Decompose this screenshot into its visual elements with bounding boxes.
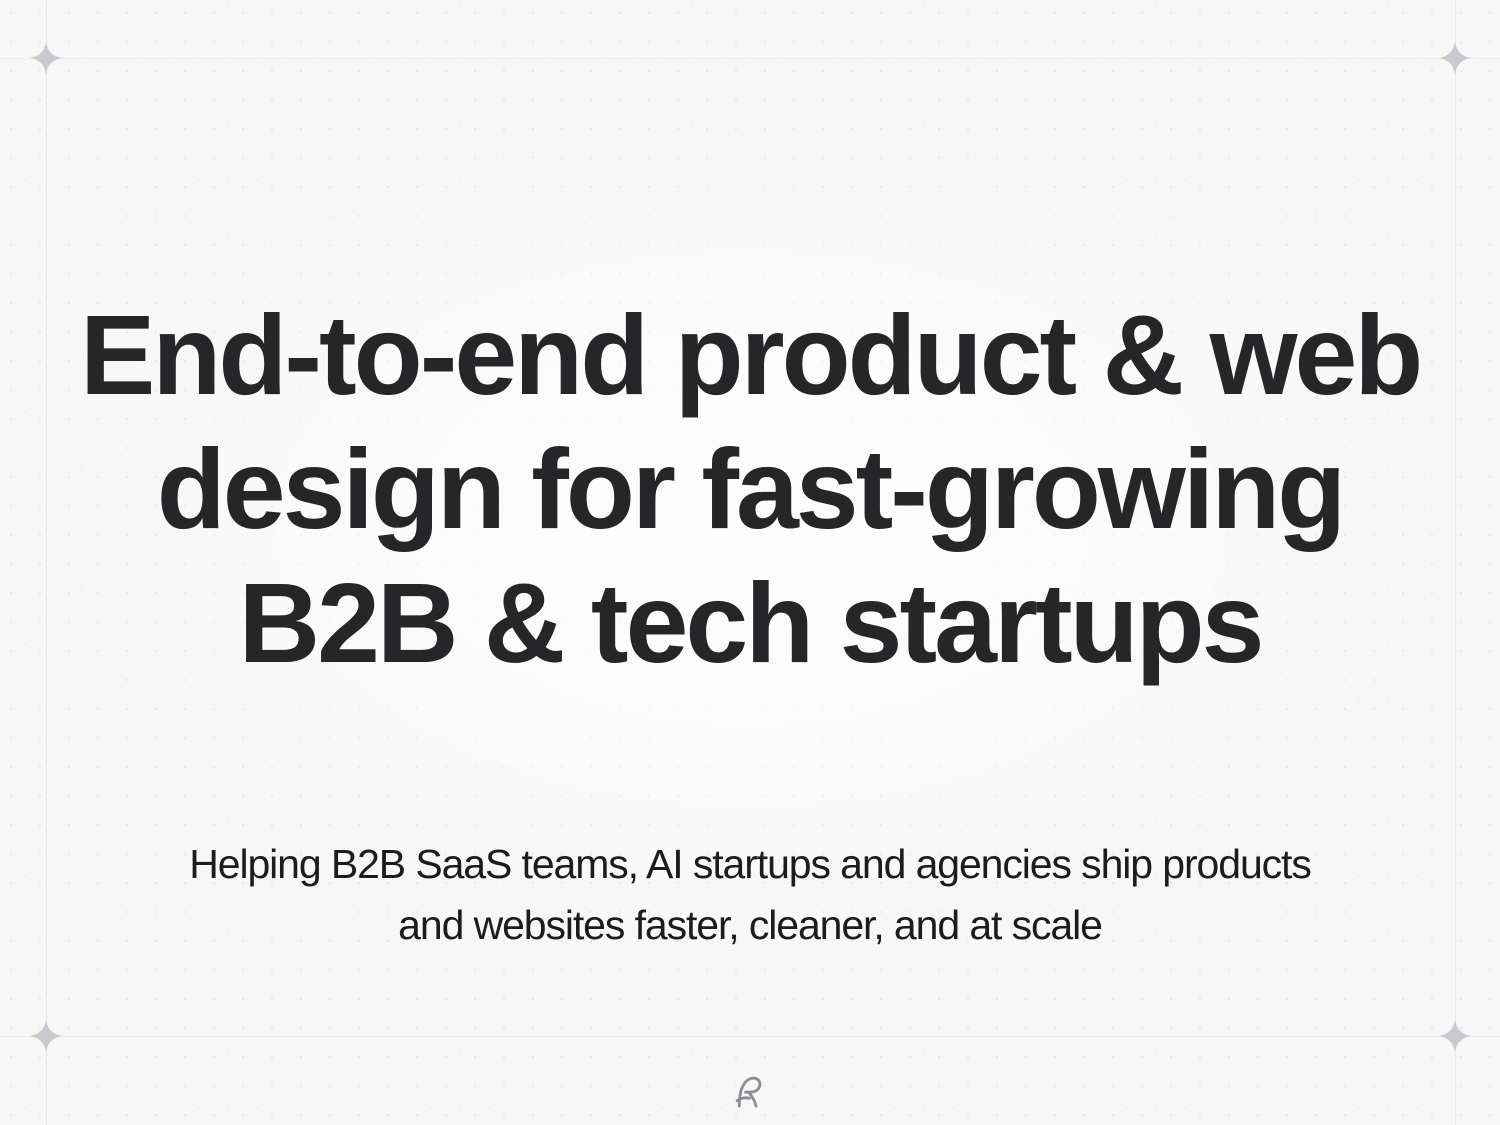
hero-slide: End-to-end product & web design for fast… (0, 0, 1500, 1125)
headline-line-1: End-to-end product & web (80, 288, 1420, 422)
script-r-logo-icon (733, 1073, 767, 1111)
hero-headline: End-to-end product & web design for fast… (80, 288, 1420, 690)
hero-subheadline: Helping B2B SaaS teams, AI startups and … (80, 834, 1420, 956)
subheadline-line-2: and websites faster, cleaner, and at sca… (80, 895, 1420, 956)
headline-line-3: B2B & tech startups (80, 556, 1420, 690)
subheadline-line-1: Helping B2B SaaS teams, AI startups and … (80, 834, 1420, 895)
headline-line-2: design for fast-growing (80, 422, 1420, 556)
hero-content: End-to-end product & web design for fast… (0, 0, 1500, 1125)
